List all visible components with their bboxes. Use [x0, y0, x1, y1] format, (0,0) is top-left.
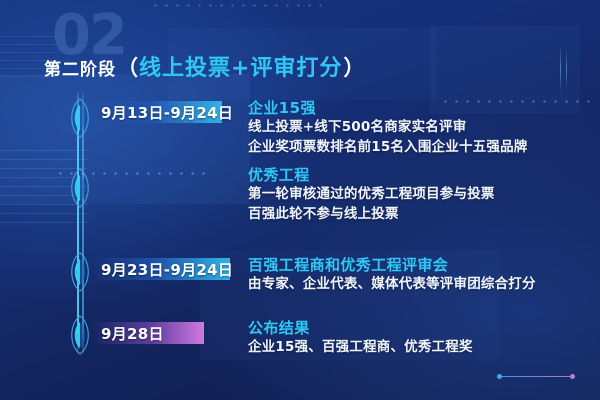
entry-line: 百强此轮不参与线上投票 — [248, 205, 495, 225]
entry-line: 由专家、企业代表、媒体代表等评审团综合打分 — [248, 275, 536, 295]
presentation-slide: 02 第二阶段 （ 线上投票+评审打分 ） 9月13日-9月24日 企业15强 … — [0, 0, 600, 400]
decorative-vertical-line — [560, 44, 561, 94]
title-topic: 线上投票+评审打分 — [139, 50, 342, 82]
decorative-dot-row — [150, 4, 330, 7]
timeline-axis-secondary — [82, 92, 84, 354]
decorative-grid-lines — [0, 150, 88, 230]
decorative-vertical-line — [566, 50, 567, 88]
entry-line: 企业奖项票数排名前15名入围企业十五强品牌 — [248, 138, 528, 158]
entry-line: 企业15强、百强工程商、优秀工程奖 — [248, 338, 473, 358]
timeline-content: 公布结果 企业15强、百强工程商、优秀工程奖 — [248, 318, 473, 358]
title-paren-open: （ — [117, 52, 138, 82]
title-paren-close: ） — [343, 52, 364, 82]
lens-diamond-icon — [62, 168, 98, 208]
timeline-date: 9月13日-9月24日 — [92, 101, 222, 123]
slide-title: 第二阶段 （ 线上投票+评审打分 ） — [44, 50, 365, 82]
entry-heading: 企业15强 — [248, 98, 528, 118]
date-text: 9月28日 — [92, 323, 164, 344]
entry-heading: 百强工程商和优秀工程评审会 — [248, 255, 536, 275]
entry-line: 第一轮审核通过的优秀工程项目参与投票 — [248, 185, 495, 205]
decorative-connector-line — [498, 376, 574, 377]
timeline-axis — [77, 92, 79, 354]
entry-line: 线上投票+线下500名商家实名评审 — [248, 118, 528, 138]
timeline-date: 9月28日 — [92, 322, 204, 344]
timeline-content: 企业15强 线上投票+线下500名商家实名评审 企业奖项票数排名前15名入围企业… — [248, 98, 528, 157]
timeline-content: 优秀工程 第一轮审核通过的优秀工程项目参与投票 百强此轮不参与线上投票 — [248, 165, 495, 224]
timeline-date: 9月23日-9月24日 — [92, 258, 230, 280]
date-text: 9月23日-9月24日 — [92, 259, 233, 280]
date-text: 9月13日-9月24日 — [92, 102, 233, 123]
stage-label: 第二阶段 — [44, 55, 116, 80]
timeline-content: 百强工程商和优秀工程评审会 由专家、企业代表、媒体代表等评审团综合打分 — [248, 255, 536, 295]
background-panel-left — [0, 74, 250, 204]
entry-heading: 公布结果 — [248, 318, 473, 338]
entry-heading: 优秀工程 — [248, 165, 495, 185]
